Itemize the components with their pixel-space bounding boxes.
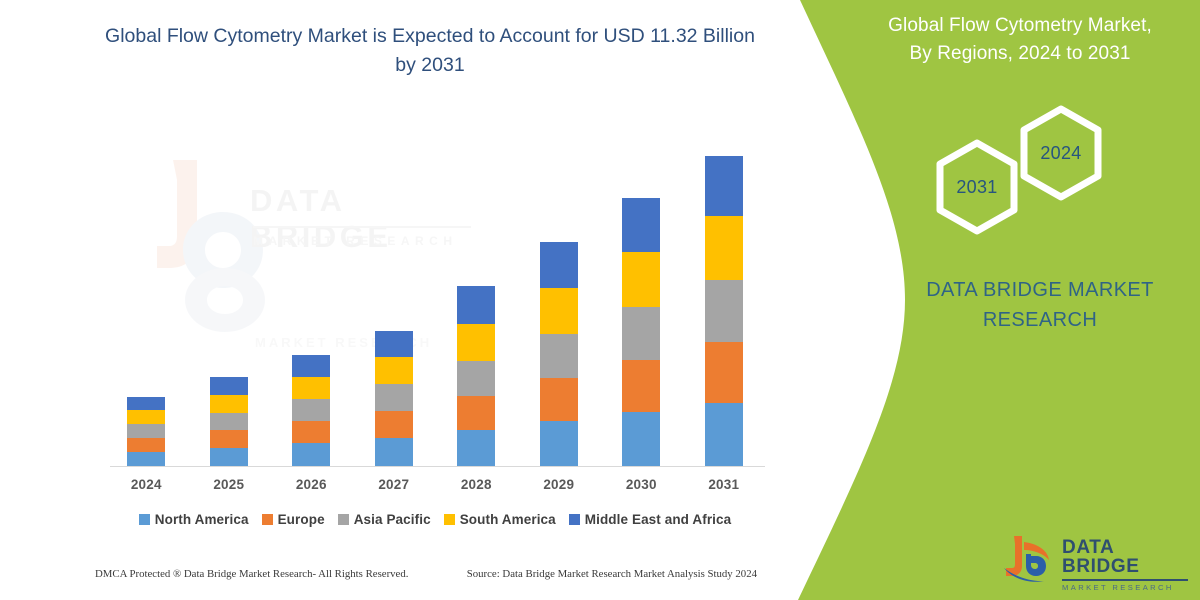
bar-segment [292,443,330,466]
bar-column-2027 [353,140,436,466]
bar-segment [705,280,743,342]
x-axis-label-2027: 2027 [353,477,436,492]
bar-stack [127,397,165,466]
logo-main-text: DATA BRIDGE [1062,538,1190,576]
bar-segment [292,399,330,421]
bar-column-2024 [105,140,188,466]
x-axis-label-2026: 2026 [270,477,353,492]
bar-segment [457,361,495,396]
bar-segment [292,355,330,377]
bar-segment [622,252,660,307]
bar-segment [292,377,330,399]
bar-segment [457,430,495,466]
bar-segment [375,384,413,411]
bar-segment [457,286,495,324]
legend-swatch-icon [444,514,455,525]
bar-stack [705,156,743,466]
bar-stack [375,331,413,466]
bar-segment [457,396,495,430]
legend-label: South America [460,512,556,527]
x-axis-label-2031: 2031 [683,477,766,492]
bar-segment [375,438,413,466]
legend-swatch-icon [338,514,349,525]
bar-segment [622,307,660,360]
legend-item-0[interactable]: North America [139,512,249,527]
legend-label: Europe [278,512,325,527]
bar-segment [127,438,165,452]
bar-column-2026 [270,140,353,466]
chart-legend: North AmericaEuropeAsia PacificSouth Ame… [105,512,765,527]
bar-segment [540,378,578,421]
legend-label: Asia Pacific [354,512,431,527]
x-axis-label-2025: 2025 [188,477,271,492]
bar-segment [210,413,248,430]
bar-column-2028 [435,140,518,466]
bar-segment [210,377,248,395]
page-title-line1: Global Flow Cytometry Market is Expected… [105,25,645,47]
legend-item-4[interactable]: Middle East and Africa [569,512,731,527]
x-axis-label-2028: 2028 [435,477,518,492]
bar-segment [705,156,743,216]
bar-segment [210,430,248,448]
x-axis-labels: 20242025202620272028202920302031 [105,477,765,492]
side-panel-title: Global Flow Cytometry Market, By Regions… [850,12,1190,67]
side-panel-brand-line2: RESEARCH [890,305,1190,335]
bar-segment [705,342,743,403]
bar-segment [540,421,578,466]
x-axis-label-2024: 2024 [105,477,188,492]
side-panel-brand: DATA BRIDGE MARKET RESEARCH [890,275,1190,335]
legend-label: North America [155,512,249,527]
logo-divider [1062,579,1188,581]
bar-segment [622,412,660,466]
bar-segment [705,216,743,280]
footer: DMCA Protected ® Data Bridge Market Rese… [95,568,775,580]
bar-segment [705,403,743,466]
bar-stack [622,198,660,466]
bar-segment [127,452,165,466]
bar-stack [457,286,495,466]
bar-segment [375,331,413,357]
data-bridge-logo-mark-icon [1000,532,1056,588]
bar-column-2031 [683,140,766,466]
infographic-slide: Global Flow Cytometry Market, By Regions… [0,0,1200,600]
bar-segment [127,397,165,410]
x-axis-label-2030: 2030 [600,477,683,492]
data-bridge-logo-text: DATA BRIDGE MARKET RESEARCH [1062,538,1190,592]
bar-segment [127,410,165,424]
bar-segment [127,424,165,438]
bar-stack [292,355,330,466]
logo-sub-text: MARKET RESEARCH [1062,584,1190,592]
hexagon-2024: 2024 [1018,105,1104,201]
x-axis-line [110,466,765,467]
bar-stack [210,377,248,466]
hexagon-group: 2024 2031 [925,105,1125,230]
legend-swatch-icon [262,514,273,525]
bar-column-2029 [518,140,601,466]
legend-item-2[interactable]: Asia Pacific [338,512,431,527]
bar-segment [540,288,578,334]
bar-segment [622,198,660,252]
footer-source: Source: Data Bridge Market Research Mark… [467,568,757,580]
bar-segment [457,324,495,361]
legend-item-1[interactable]: Europe [262,512,325,527]
hexagon-2031: 2031 [934,139,1020,235]
bar-segment [622,360,660,412]
chart-plot-area [105,140,765,467]
bar-segment [210,395,248,413]
hexagon-2031-label: 2031 [934,139,1020,235]
bar-segment [375,357,413,384]
legend-label: Middle East and Africa [585,512,731,527]
side-panel-title-line1: Global Flow Cytometry Market, [888,15,1152,36]
legend-swatch-icon [569,514,580,525]
bar-segment [210,448,248,466]
side-panel-brand-line1: DATA BRIDGE MARKET [926,279,1154,301]
bar-group [105,140,765,466]
bar-segment [292,421,330,443]
x-axis-label-2029: 2029 [518,477,601,492]
bar-stack [540,242,578,466]
bar-segment [540,242,578,288]
footer-copyright: DMCA Protected ® Data Bridge Market Rese… [95,568,408,580]
legend-swatch-icon [139,514,150,525]
hexagon-2024-label: 2024 [1018,105,1104,201]
page-title: Global Flow Cytometry Market is Expected… [105,22,755,81]
bar-column-2030 [600,140,683,466]
legend-item-3[interactable]: South America [444,512,556,527]
side-panel-title-line2: By Regions, 2024 to 2031 [850,40,1190,68]
bar-segment [540,334,578,378]
data-bridge-logo: DATA BRIDGE MARKET RESEARCH [1000,530,1190,592]
bar-segment [375,411,413,438]
bar-column-2025 [188,140,271,466]
